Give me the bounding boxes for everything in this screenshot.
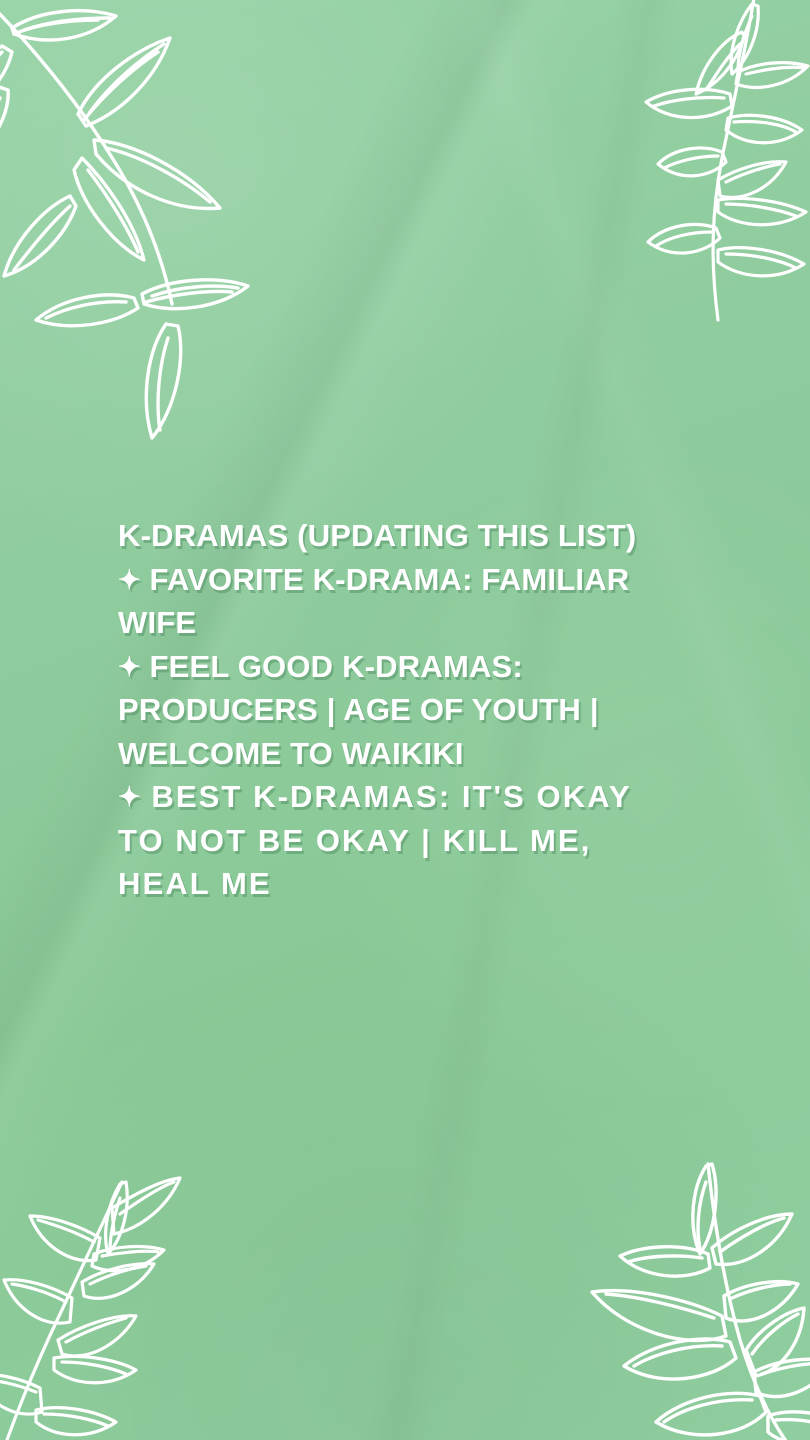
list-item-feel-good-text: FEEL GOOD K-DRAMAS: PRODUCERS | AGE OF Y…: [118, 649, 608, 771]
sparkle-icon: ✦: [118, 567, 141, 594]
story-card: K-DRAMAS (UPDATING THIS LIST) ✦ FAVORITE…: [0, 0, 810, 1440]
list-item-best-text: BEST K-DRAMAS: IT'S OKAY TO NOT BE OKAY …: [118, 779, 642, 901]
sparkle-icon: ✦: [118, 784, 141, 811]
kdrama-list-text-block: K-DRAMAS (UPDATING THIS LIST) ✦ FAVORITE…: [118, 514, 678, 906]
list-item-best: ✦ BEST K-DRAMAS: IT'S OKAY TO NOT BE OKA…: [118, 775, 678, 906]
list-heading: K-DRAMAS (UPDATING THIS LIST): [118, 514, 678, 558]
list-item-feel-good: ✦ FEEL GOOD K-DRAMAS: PRODUCERS | AGE OF…: [118, 645, 678, 776]
list-item-favorite: ✦ FAVORITE K-DRAMA: FAMILIAR WIFE: [118, 558, 678, 645]
sparkle-icon: ✦: [118, 654, 141, 681]
list-item-favorite-text: FAVORITE K-DRAMA: FAMILIAR WIFE: [118, 562, 638, 641]
